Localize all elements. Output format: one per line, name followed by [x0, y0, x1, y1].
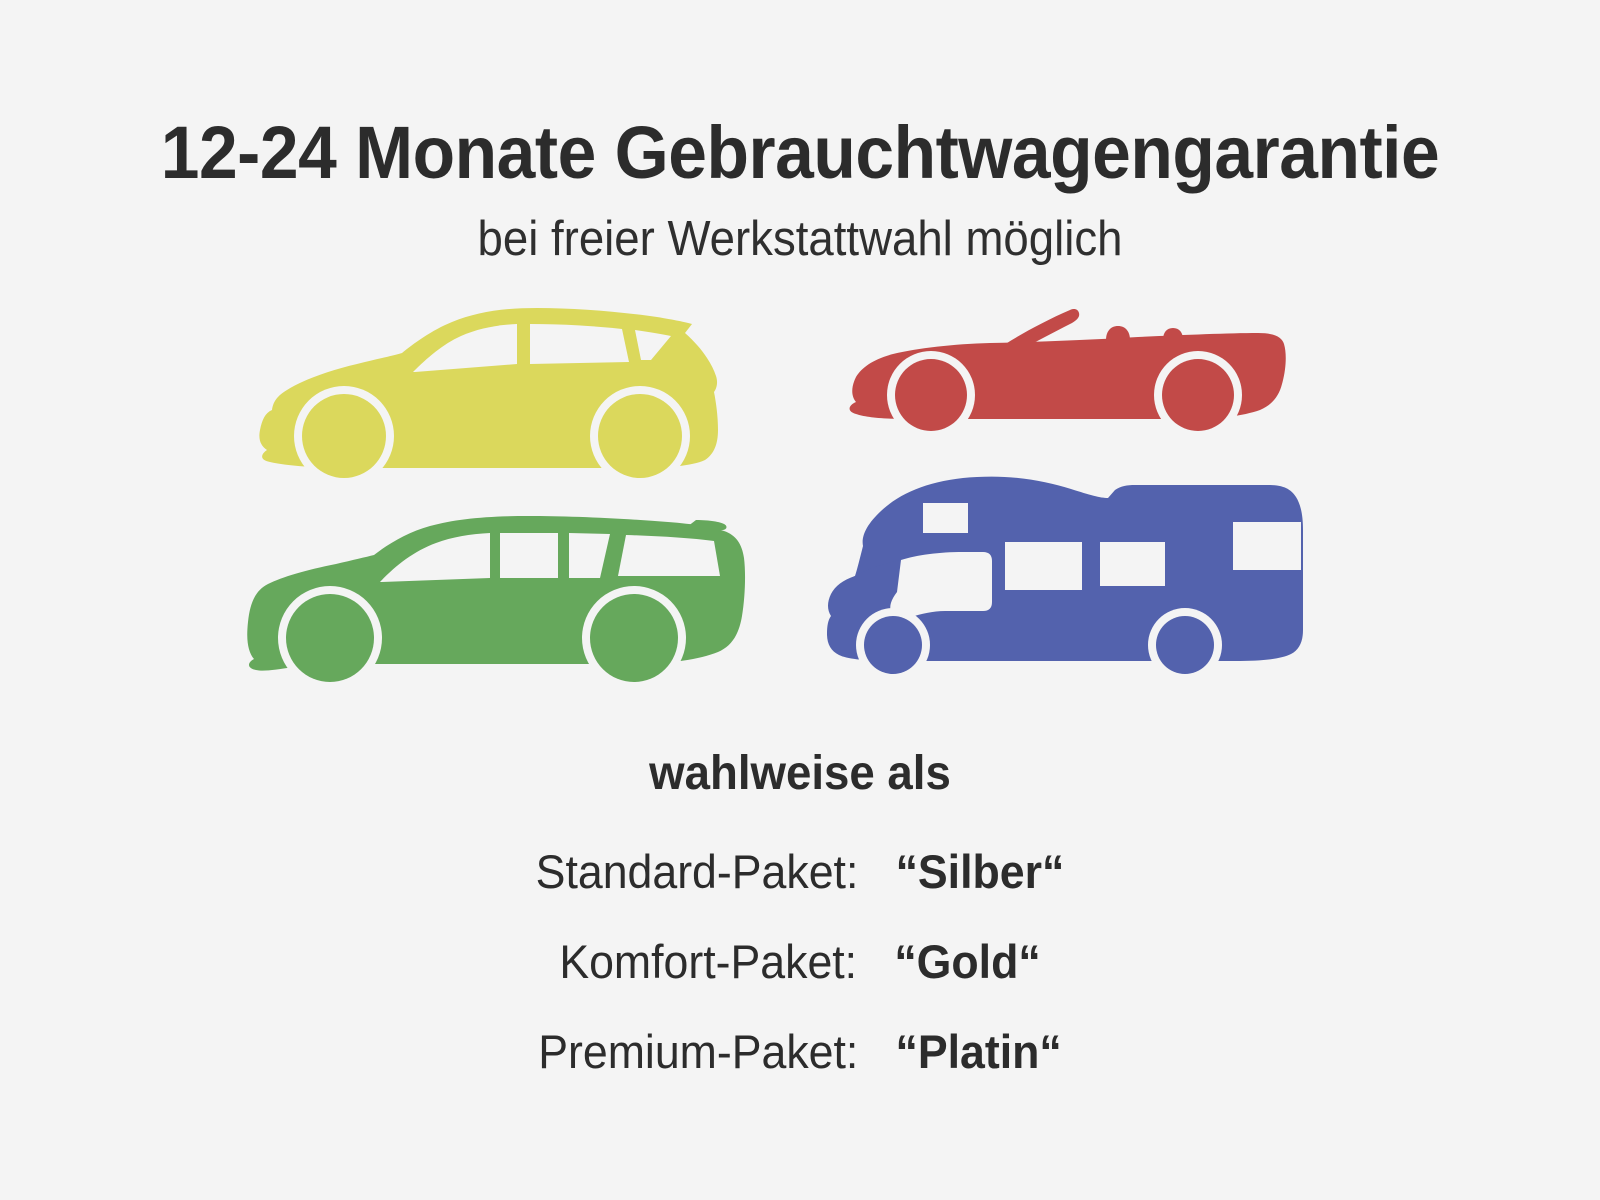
page-title: 12-24 Monate Gebrauchtwagengarantie [48, 116, 1552, 190]
options-intro-text: wahlweise als [40, 750, 1560, 798]
package-name-komfort: “Gold“ [894, 935, 1040, 988]
vehicle-wagon-icon [228, 494, 753, 689]
vehicle-convertible-icon [838, 292, 1288, 442]
package-name-standard: “Silber“ [896, 845, 1065, 898]
package-row-standard: Standard-Paket: “Silber“ [40, 848, 1560, 895]
vehicle-hatchback-icon [237, 284, 737, 484]
package-label-standard: Standard-Paket: [536, 845, 859, 898]
package-row-premium: Premium-Paket: “Platin“ [40, 1028, 1560, 1075]
hatchback-svg [237, 284, 737, 484]
page-subtitle: bei freier Werkstattwahl möglich [56, 215, 1544, 264]
poster-canvas: 12-24 Monate Gebrauchtwagengarantie bei … [0, 0, 1600, 1200]
package-label-premium: Premium-Paket: [538, 1025, 858, 1078]
package-label-komfort: Komfort-Paket: [559, 935, 857, 988]
convertible-svg [838, 292, 1288, 442]
wagon-svg [228, 494, 753, 689]
vehicle-motorhome-icon [805, 454, 1305, 679]
package-name-premium: “Platin“ [896, 1025, 1062, 1078]
package-list: Standard-Paket: “Silber“ Komfort-Paket: … [0, 848, 1600, 1118]
motorhome-svg [805, 454, 1305, 679]
package-row-komfort: Komfort-Paket: “Gold“ [40, 938, 1560, 985]
vehicle-illustration-group [0, 272, 1600, 702]
